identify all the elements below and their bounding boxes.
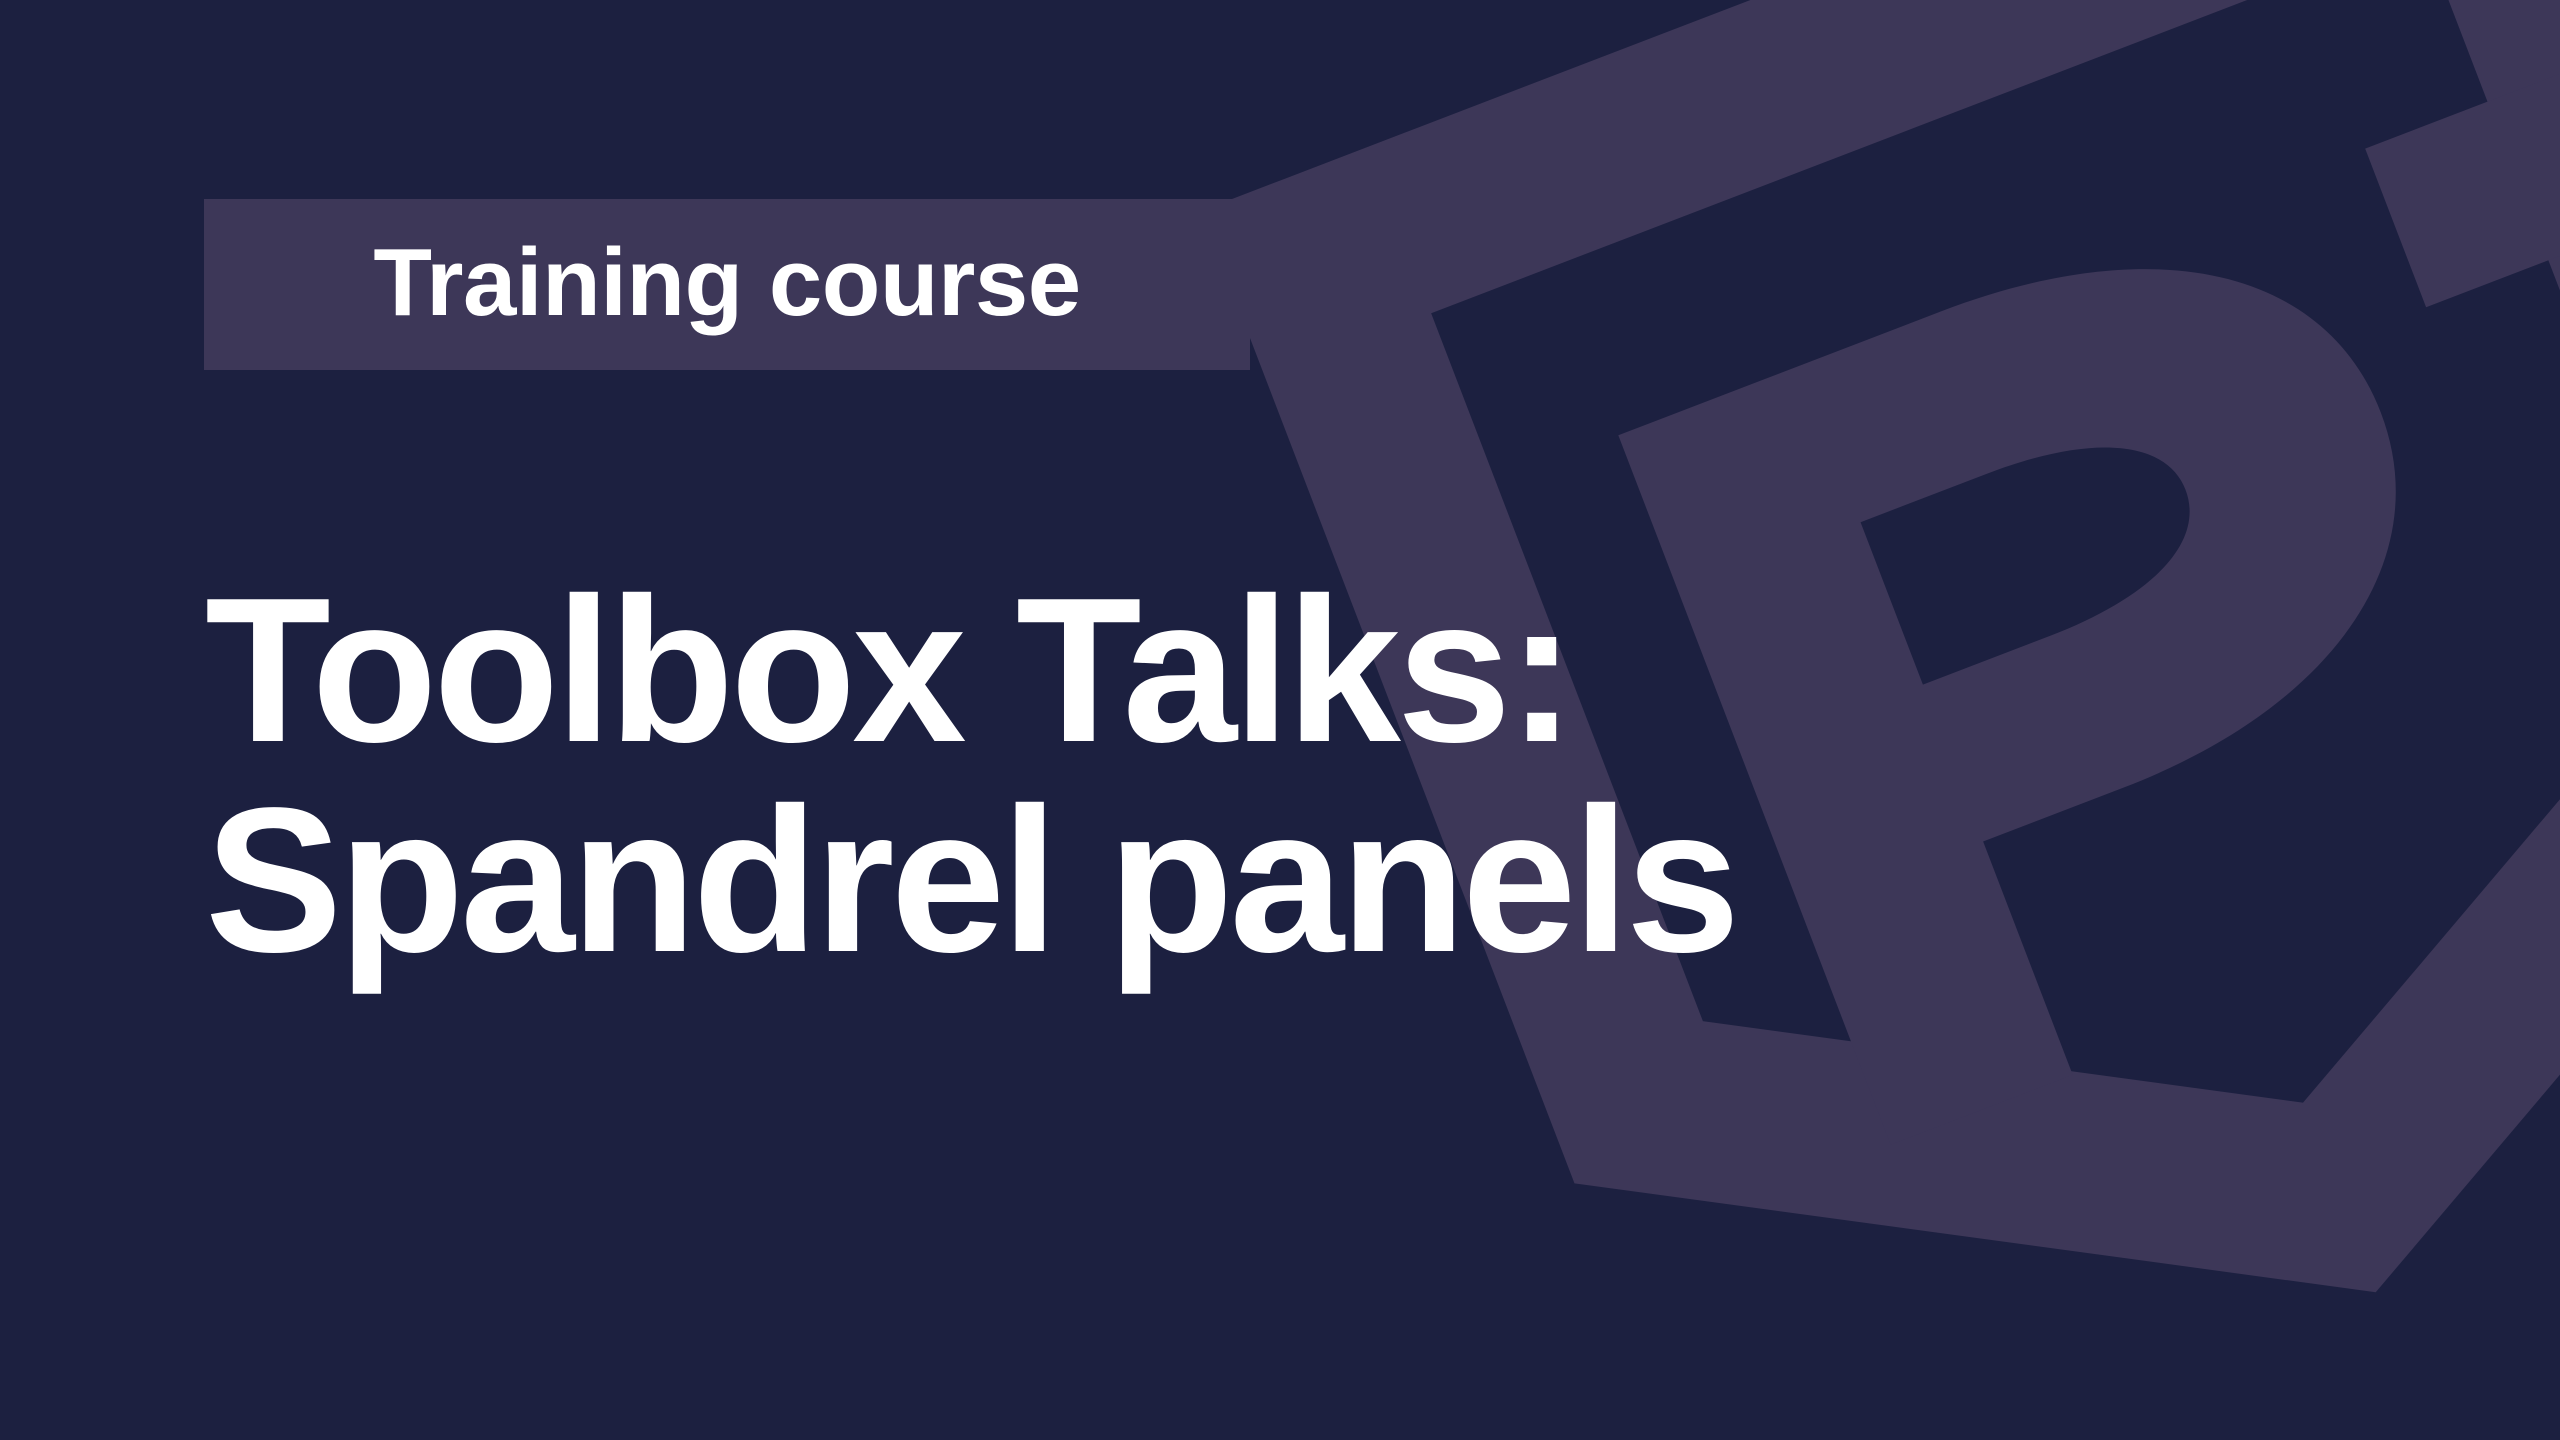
page-title-line-1: Toolbox Talks: <box>205 565 1905 775</box>
page-title: Toolbox Talks: Spandrel panels <box>205 565 1905 985</box>
page-title-line-2: Spandrel panels <box>205 775 1905 985</box>
kicker-label: Training course <box>373 235 1080 331</box>
title-slide: Training course Toolbox Talks: Spandrel … <box>0 0 2560 1440</box>
slide-content: Training course Toolbox Talks: Spandrel … <box>0 0 2560 1440</box>
kicker-badge: Training course <box>204 199 1250 370</box>
